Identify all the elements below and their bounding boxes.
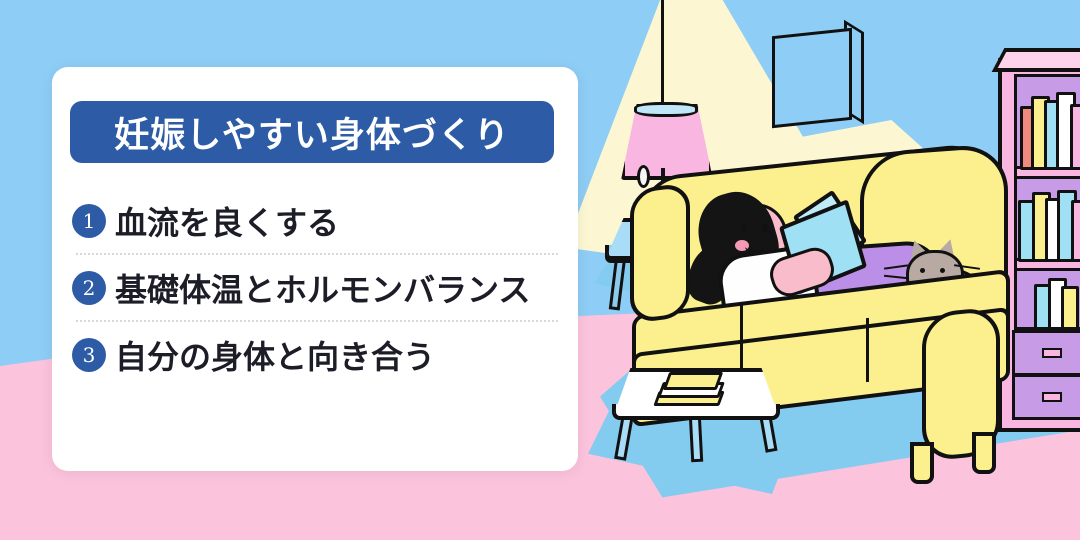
- list-item-number: 1: [72, 204, 106, 238]
- cat-eye: [920, 268, 925, 273]
- picture-frame-icon: [772, 26, 860, 118]
- info-card: 妊娠しやすい身体づくり 1 血流を良くする 2 基礎体温とホルモンバランス 3 …: [52, 67, 578, 471]
- book-spine: [1070, 104, 1080, 170]
- list-item-number: 3: [72, 338, 106, 372]
- sofa-leg: [910, 442, 934, 484]
- bookshelf-top: [992, 48, 1080, 72]
- coffee-table-leg: [689, 414, 703, 463]
- list-item[interactable]: 3 自分の身体と向き合う: [72, 323, 562, 387]
- list-item-number: 2: [72, 271, 106, 305]
- title-banner: 妊娠しやすい身体づくり: [70, 101, 554, 163]
- illustration-banner: 妊娠しやすい身体づくり 1 血流を良くする 2 基礎体温とホルモンバランス 3 …: [0, 0, 1080, 540]
- list-item[interactable]: 1 血流を良くする: [72, 189, 562, 253]
- drawer-handle-icon: [1042, 392, 1062, 402]
- book-stack-item: [663, 372, 724, 390]
- woman-eye: [762, 224, 768, 233]
- page-title: 妊娠しやすい身体づくり: [114, 107, 510, 158]
- lamp-pull-chain: [637, 165, 650, 188]
- sofa-seam: [740, 302, 743, 370]
- list-item-label: 血流を良くする: [115, 198, 339, 244]
- sofa-arm-left: [630, 182, 690, 324]
- list-item[interactable]: 2 基礎体温とホルモンバランス: [72, 256, 562, 320]
- cat-eye: [940, 268, 945, 273]
- book-spine: [1071, 200, 1080, 262]
- picture-frame-face: [772, 28, 852, 128]
- sofa-seam: [866, 318, 869, 382]
- lamp-cord: [661, 0, 664, 115]
- sofa-leg: [972, 432, 996, 474]
- lamp-rim: [634, 102, 698, 117]
- list-item-label: 基礎体温とホルモンバランス: [115, 265, 530, 311]
- list-item-label: 自分の身体と向き合う: [115, 332, 435, 378]
- checklist: 1 血流を良くする 2 基礎体温とホルモンバランス 3 自分の身体と向き合う: [72, 189, 562, 387]
- woman-eye: [741, 223, 747, 232]
- book-spine: [1061, 286, 1079, 330]
- drawer-handle-icon: [1042, 348, 1062, 358]
